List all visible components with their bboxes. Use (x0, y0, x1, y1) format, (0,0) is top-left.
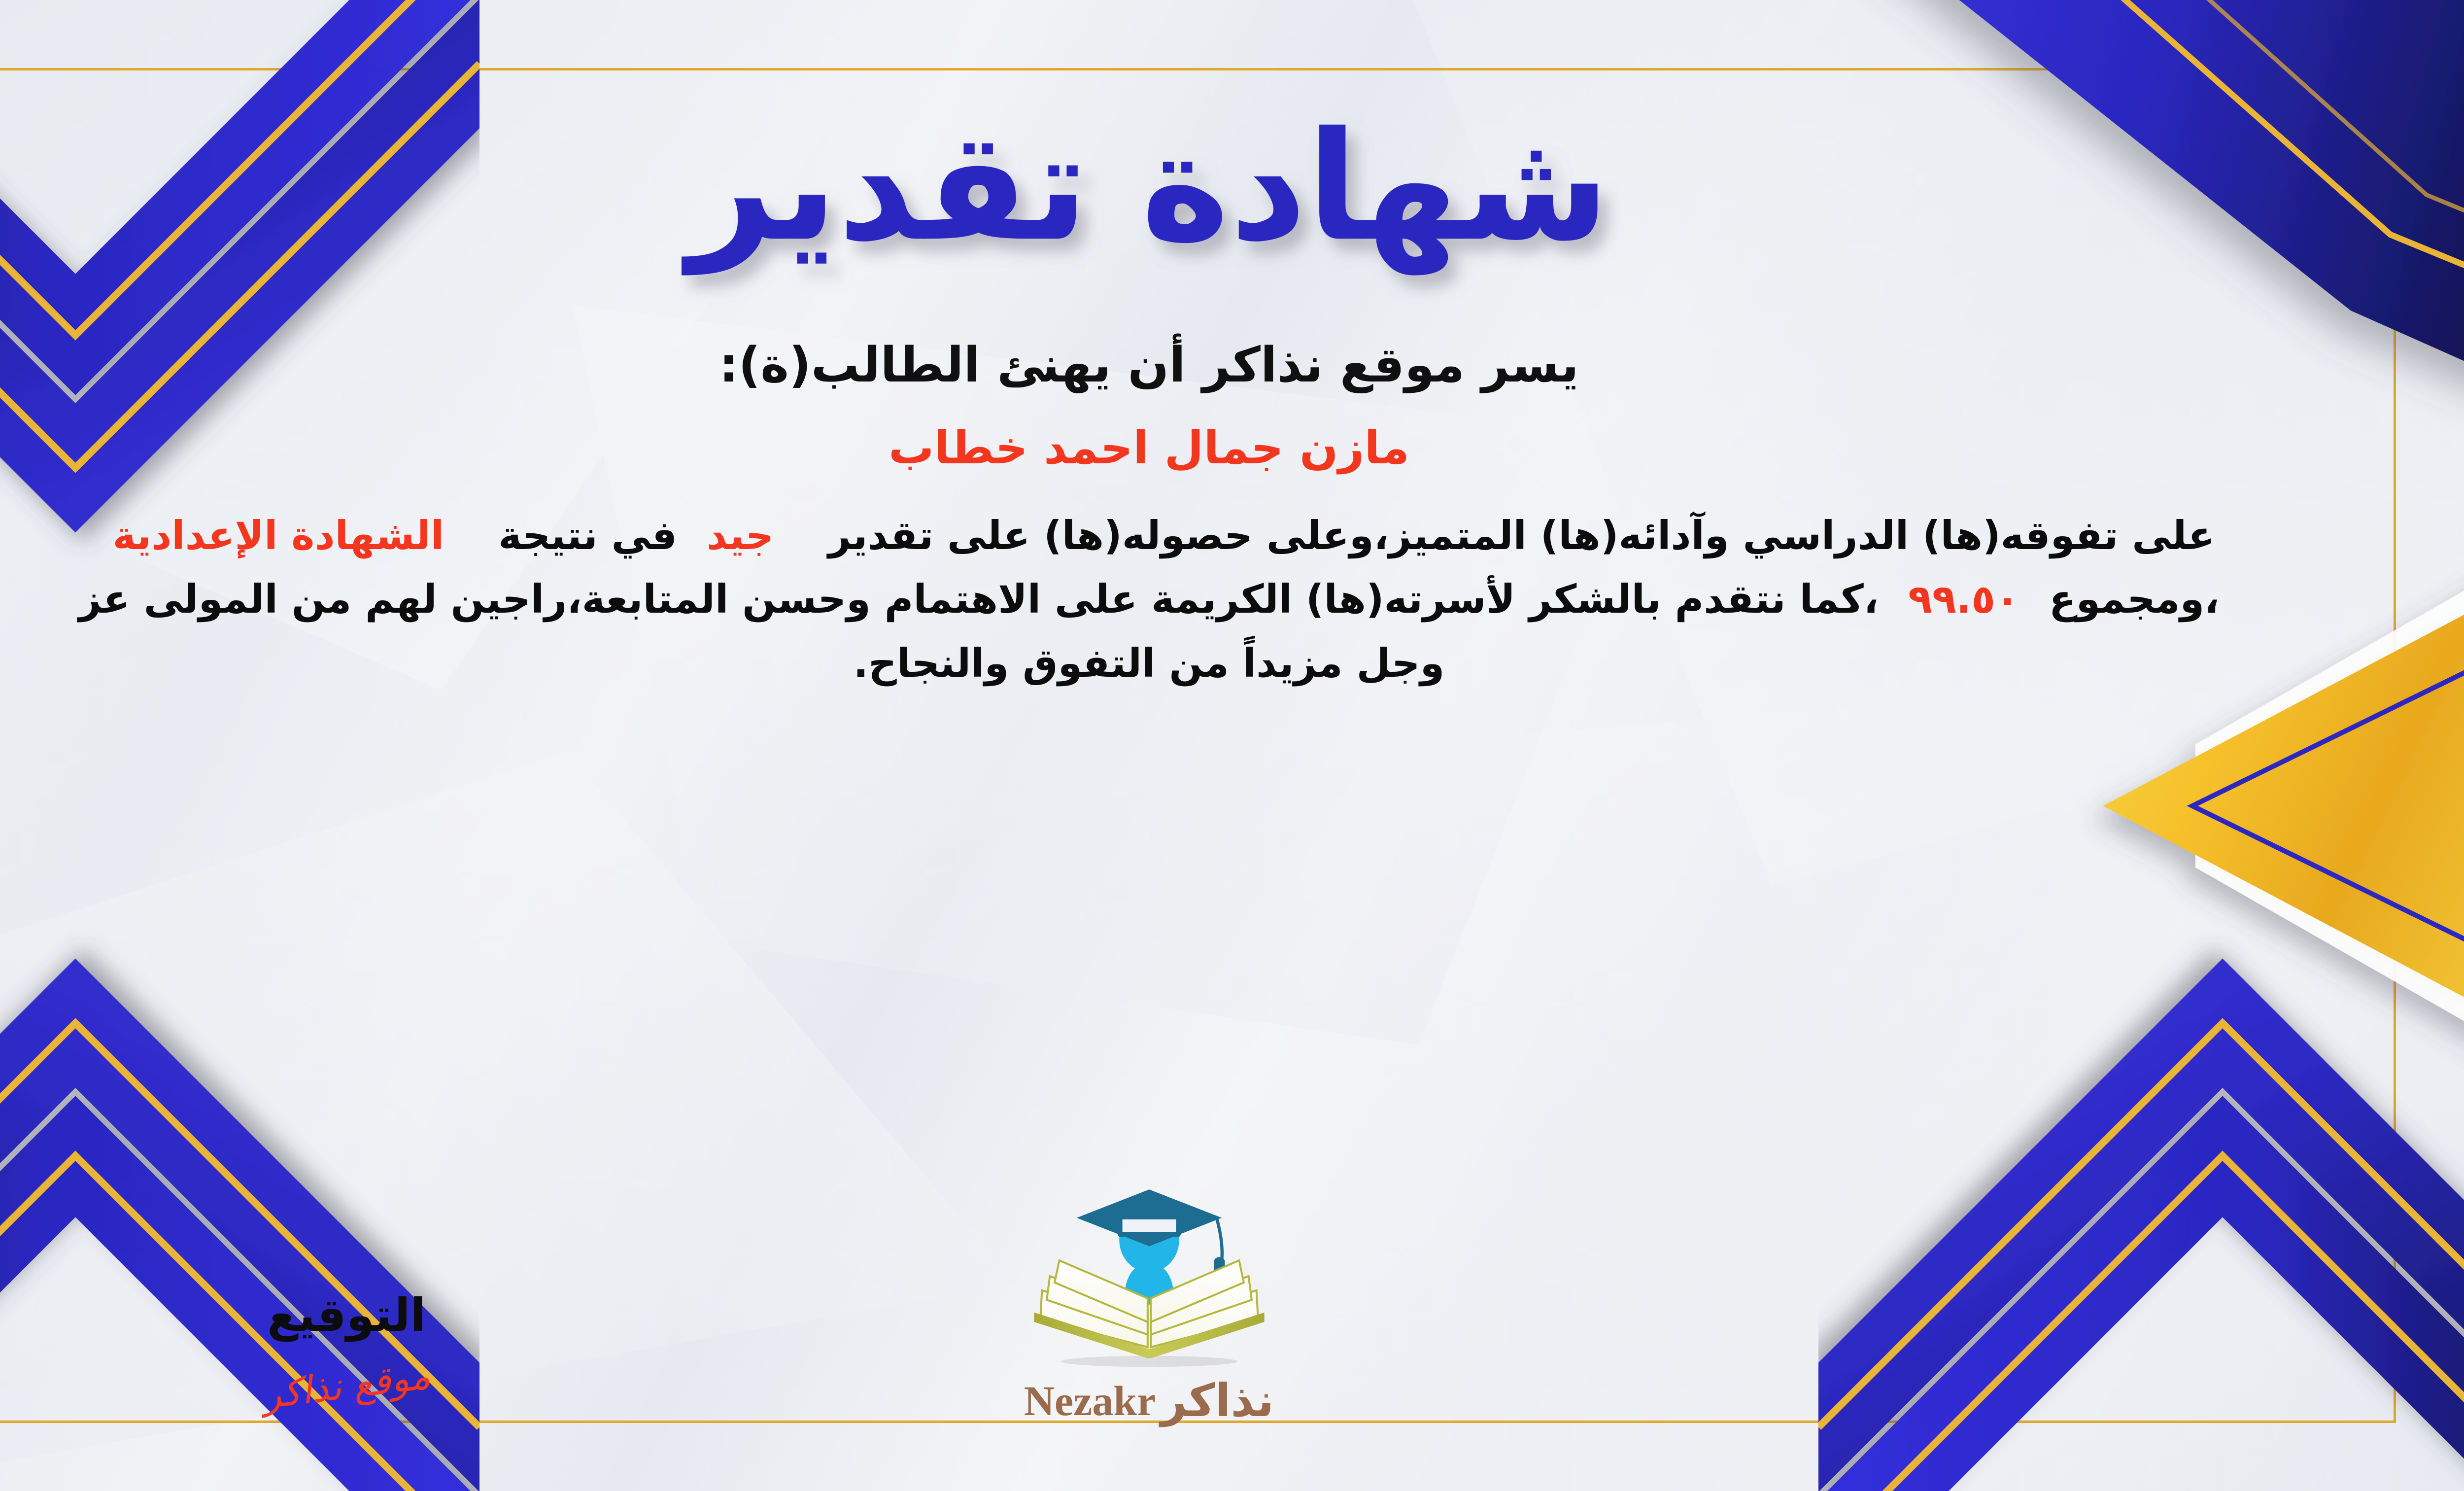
body-seg-1: على تفوقه(ها) الدراسي وآدائه(ها) المتميز… (828, 513, 2215, 558)
grade-value: جيد (707, 513, 774, 558)
certificate-footer: التوقيع موقع نذاكر (0, 1172, 2464, 1407)
body-seg-3: ،ومجموع (2049, 576, 2220, 622)
brand-wordmark: نذاكر Nezakr (1024, 1374, 1274, 1427)
certificate-canvas: شهادة تقدير يسر موقع نذاكر أن يهنئ الطال… (0, 0, 2464, 1491)
total-score: ٩٩.٥٠ (1908, 576, 2019, 622)
brand-logo: نذاكر Nezakr (854, 1172, 1445, 1427)
body-seg-2: في نتيجة (498, 513, 677, 558)
graduation-book-icon (1021, 1172, 1277, 1369)
certificate-title: شهادة تقدير (46, 104, 2252, 296)
signature-label: التوقيع (267, 1289, 426, 1342)
certificate-body: على تفوقه(ها) الدراسي وآدائه(ها) المتميز… (46, 504, 2252, 695)
signature-block: التوقيع موقع نذاكر (51, 1289, 642, 1407)
greeting-line: يسر موقع نذاكر أن يهنئ الطالب(ة): (719, 335, 1579, 396)
title-glyphs: شهادة تقدير (681, 99, 1610, 276)
exam-name: الشهادة الإعدادية (113, 513, 445, 558)
brand-arabic: نذاكر (1161, 1374, 1274, 1427)
brand-english: Nezakr (1024, 1376, 1156, 1425)
body-seg-4: ،كما نتقدم بالشكر لأسرته(ها) الكريمة على… (78, 576, 1879, 686)
student-name: مازن جمال احمد خطاب (889, 421, 1409, 474)
